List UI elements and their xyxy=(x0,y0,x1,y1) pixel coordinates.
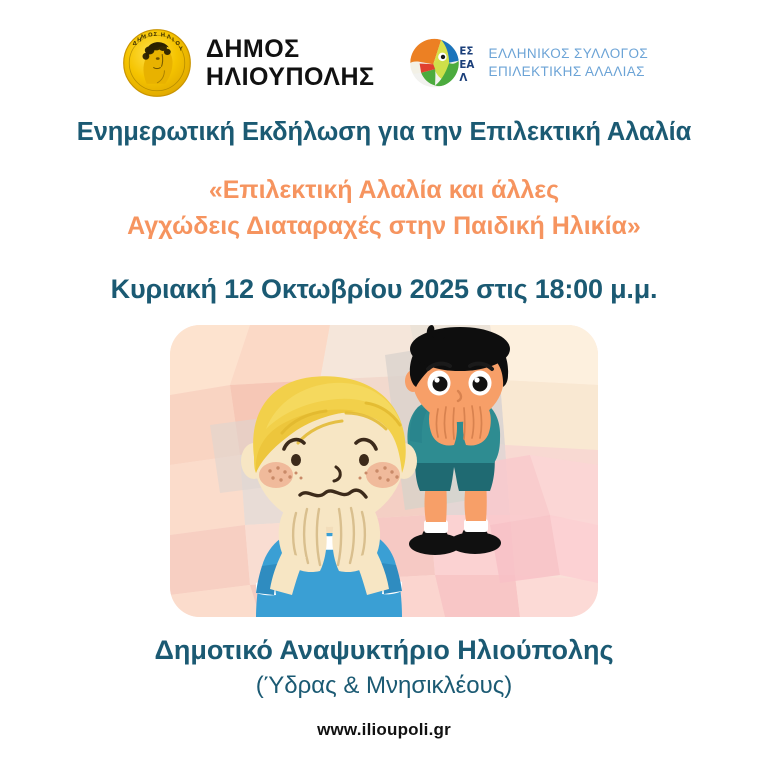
child-blond-hair xyxy=(241,376,417,617)
two-children-covering-mouths-illustration xyxy=(170,325,598,617)
eseal-circle-mark-icon: ΕΣ ΕΑ Λ xyxy=(409,32,477,94)
website-url[interactable]: www.ilioupoli.gr xyxy=(317,720,451,740)
association-logo: ΕΣ ΕΑ Λ ΕΛΛΗΝΙΚΟΣ ΣΥΛΛΟΓΟΣ ΕΠΙΛΕΚΤΙΚΗΣ Α… xyxy=(409,32,649,94)
logo-row: ΔΗΜ ΟΣ ΗΛΙ ΟΥ xyxy=(120,22,648,104)
illustration-container xyxy=(170,325,598,617)
municipality-logo: ΔΗΜ ΟΣ ΗΛΙ ΟΥ xyxy=(120,26,375,100)
event-datetime: Κυριακή 12 Οκτωβρίου 2025 στις 18:00 μ.μ… xyxy=(111,274,658,305)
eseal-acronym-line3: Λ xyxy=(459,72,467,84)
venue-name: Δημοτικό Αναψυκτήριο Ηλιούπολης xyxy=(154,635,613,666)
association-name: ΕΛΛΗΝΙΚΟΣ ΣΥΛΛΟΓΟΣ ΕΠΙΛΕΚΤΙΚΗΣ ΑΛΑΛΙΑΣ xyxy=(489,45,649,81)
event-poster: ΔΗΜ ΟΣ ΗΛΙ ΟΥ xyxy=(0,0,768,768)
event-title: Ενημερωτική Εκδήλωση για την Επιλεκτική … xyxy=(77,118,691,147)
eseal-acronym-line2: ΕΑ xyxy=(459,59,474,71)
venue-address: (Ύδρας & Μνησικλέους) xyxy=(256,672,513,700)
eseal-acronym-line1: ΕΣ xyxy=(459,46,473,58)
municipality-seal-icon: ΔΗΜ ΟΣ ΗΛΙ ΟΥ xyxy=(120,26,194,100)
event-subtitle: «Επιλεκτική Αλαλία και άλλες Αγχώδεις Δι… xyxy=(127,173,641,244)
municipality-name: ΔΗΜΟΣ ΗΛΙΟΥΠΟΛΗΣ xyxy=(206,35,375,91)
